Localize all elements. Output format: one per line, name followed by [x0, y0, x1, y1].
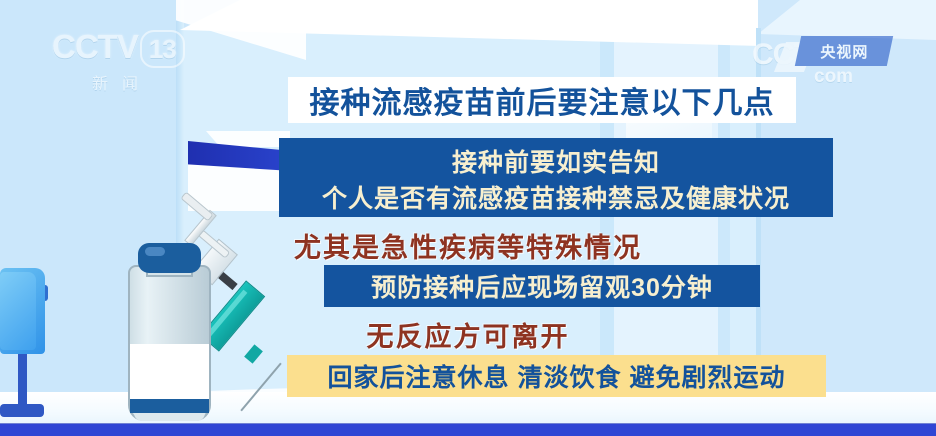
bottom-bar — [0, 424, 936, 436]
channel-subtitle: 新闻 — [52, 70, 192, 94]
headline-title-text: 接种流感疫苗前后要注意以下几点 — [288, 77, 796, 123]
broadcast-screen: CCTV13 新闻 CCTV com 央视网 接种流感疫苗前后要注意以下几点 接… — [0, 0, 936, 436]
cctv-com-badge: 央视网 — [795, 36, 893, 66]
point-4-text: 无反应方可离开 — [0, 315, 936, 354]
point-2-text: 尤其是急性疾病等特殊情况 — [0, 226, 936, 265]
cctv-com-badge-label: 央视网 — [798, 36, 890, 62]
point-5-yellow-band: 回家后注意休息 清淡饮食 避免剧烈运动 — [287, 355, 826, 397]
cctv-wordmark: CCTV — [52, 28, 138, 65]
vial-band — [130, 399, 209, 413]
syringe-plunger-head — [180, 191, 213, 221]
vial-foot — [134, 413, 205, 421]
headline-title-band: 接种流感疫苗前后要注意以下几点 — [288, 77, 796, 123]
chair-base — [0, 404, 44, 417]
syringe-needle — [240, 363, 281, 412]
point-1-line-1: 接种前要如实告知 — [279, 143, 833, 179]
point-3-blue-band: 预防接种后应现场留观30分钟 — [324, 265, 760, 307]
cctv-com-suffix: com — [814, 68, 932, 86]
point-1-line-2: 个人是否有流感疫苗接种禁忌及健康状况 — [279, 179, 833, 215]
point-3-text: 预防接种后应现场留观30分钟 — [324, 265, 760, 307]
cctv13-channel-logo: CCTV13 新闻 — [52, 30, 192, 92]
channel-number: 13 — [140, 30, 185, 68]
point-5-text: 回家后注意休息 清淡饮食 避免剧烈运动 — [287, 355, 826, 397]
chair-post — [18, 348, 27, 408]
point-1-blue-box: 接种前要如实告知 个人是否有流感疫苗接种禁忌及健康状况 — [279, 138, 833, 217]
